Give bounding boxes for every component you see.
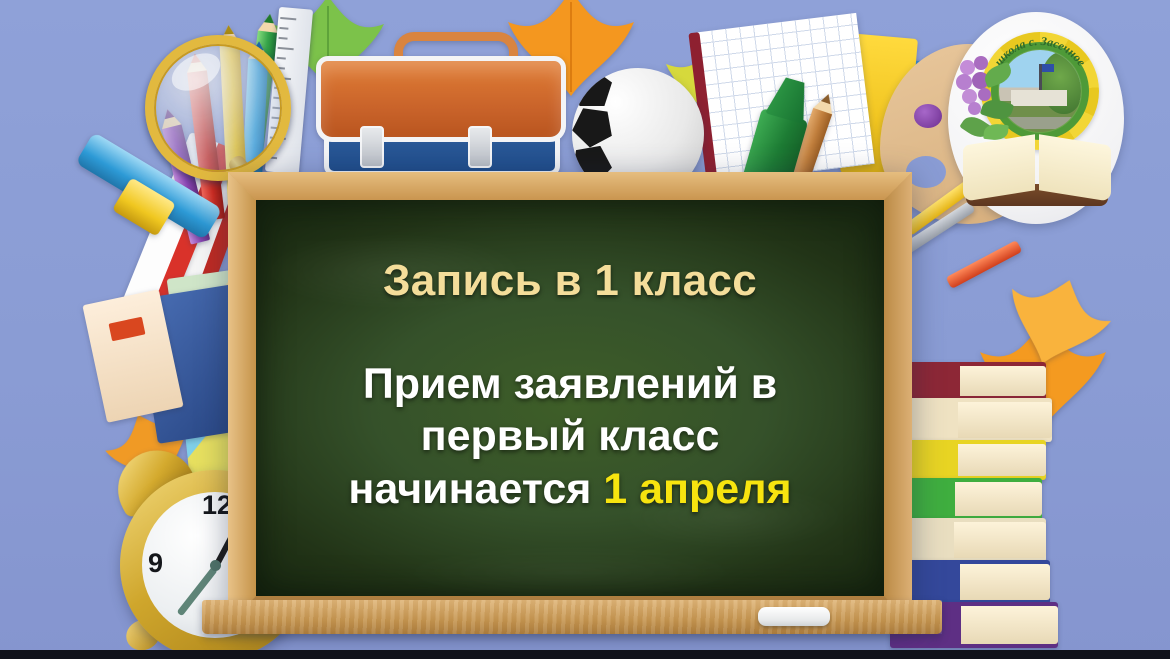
briefcase-icon (316, 48, 566, 176)
magnifying-glass-icon (145, 35, 291, 181)
clock-center-pin (210, 560, 221, 571)
chalkboard-text-block: Запись в 1 класс Прием заявлений в первы… (256, 200, 884, 596)
book-stack-red (898, 362, 1046, 400)
announcement-text: Прием заявлений в первый класс начинаетс… (348, 358, 791, 515)
page-title: Запись в 1 класс (383, 256, 757, 306)
palette-blob-purple (914, 104, 942, 128)
announcement-date-highlight: 1 апреля (603, 465, 791, 513)
lilac-flower-icon (954, 56, 1018, 146)
book-stack-green (892, 478, 1042, 520)
announcement-line-1: Прием заявлений в (348, 358, 791, 410)
school-emblem: школа с. Засечное (948, 12, 1124, 224)
bottom-letterbox-bar (0, 650, 1170, 659)
announcement-line-3: начинается 1 апреля (348, 463, 791, 515)
book-stack-cream (890, 398, 1052, 442)
chalkboard: Запись в 1 класс Прием заявлений в первы… (228, 172, 912, 624)
chalk-tray (202, 600, 942, 634)
book-stack-blue (894, 560, 1050, 604)
announcement-line-2: первый класс (348, 410, 791, 462)
announcement-line-3-prefix: начинается (348, 465, 603, 513)
poster-canvas: 12 9 6 Запись в 1 класс Прием заявлений … (0, 0, 1170, 659)
chalk-piece (758, 607, 830, 626)
book-stack-yellow (894, 440, 1046, 480)
clock-num-9: 9 (148, 548, 163, 579)
